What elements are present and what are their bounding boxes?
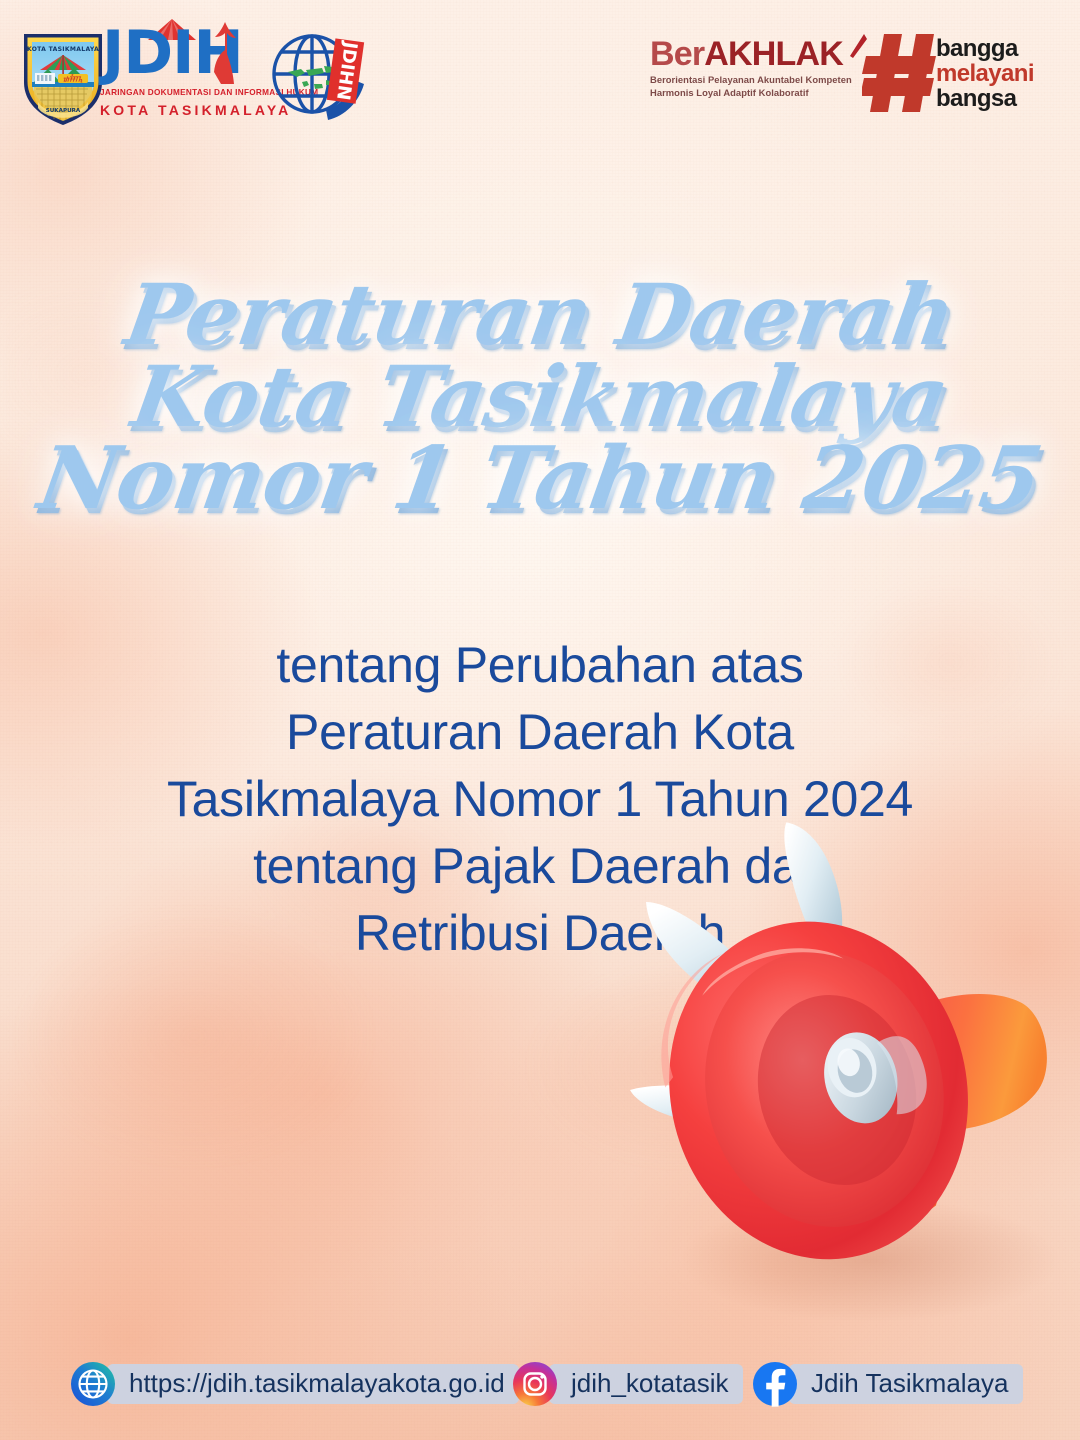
berakhlak-logo: BerAKHLAK Berorientasi Pelayanan Akuntab… bbox=[650, 22, 1040, 122]
poster-footer: https://jdih.tasikmalayakota.go.id bbox=[0, 1352, 1080, 1422]
jdih-logo: JDIH JARINGAN DOKUMENTASI DAN INFORMASI … bbox=[100, 18, 280, 126]
jdihn-logo-icon: JDIHN bbox=[262, 24, 372, 124]
body-line-2: Peraturan Daerah Kota bbox=[0, 699, 1080, 766]
poster-header: KOTA TASIKMALAYA ᮒᮞᮤᮊ᮪ bbox=[0, 0, 1080, 140]
website-label[interactable]: https://jdih.tasikmalayakota.go.id bbox=[107, 1364, 519, 1404]
svg-text:KOTA TASIKMALAYA: KOTA TASIKMALAYA bbox=[27, 46, 99, 53]
berakhlak-title: BerAKHLAK bbox=[650, 36, 860, 72]
instagram-label[interactable]: jdih_kotatasik bbox=[549, 1364, 743, 1404]
kota-tasikmalaya-emblem-icon: KOTA TASIKMALAYA ᮒᮞᮤᮊ᮪ bbox=[18, 24, 108, 126]
instagram-icon bbox=[512, 1361, 558, 1407]
facebook-label[interactable]: Jdih Tasikmalaya bbox=[789, 1364, 1023, 1404]
berakhlak-values-line1: Berorientasi Pelayanan Akuntabel Kompete… bbox=[650, 74, 860, 87]
title-line-2: Kota Tasikmalaya bbox=[0, 356, 1080, 438]
svg-text:ᮒᮞᮤᮊ᮪: ᮒᮞᮤᮊ᮪ bbox=[63, 74, 82, 83]
hashtag-line-3: bangsa bbox=[936, 86, 1034, 111]
footer-facebook-link[interactable]: Jdih Tasikmalaya bbox=[752, 1360, 1023, 1408]
hashtag-icon bbox=[862, 30, 940, 116]
globe-icon bbox=[70, 1361, 116, 1407]
jdih-subtitle: JARINGAN DOKUMENTASI DAN INFORMASI HUKUM bbox=[100, 88, 280, 97]
hashtag-line-1: bangga bbox=[936, 36, 1034, 61]
svg-text:SUKAPURA: SUKAPURA bbox=[46, 108, 81, 114]
footer-website-link[interactable]: https://jdih.tasikmalayakota.go.id bbox=[70, 1360, 519, 1408]
berakhlak-prefix: Ber bbox=[650, 35, 704, 73]
title-line-3: Nomor 1 Tahun 2025 bbox=[0, 438, 1080, 520]
footer-instagram-link[interactable]: jdih_kotatasik bbox=[512, 1360, 743, 1408]
poster-title: Peraturan Daerah Kota Tasikmalaya Nomor … bbox=[0, 274, 1080, 520]
jdih-figure-icon bbox=[210, 22, 238, 84]
facebook-icon bbox=[752, 1361, 798, 1407]
body-line-1: tentang Perubahan atas bbox=[0, 632, 1080, 699]
poster-canvas: KOTA TASIKMALAYA ᮒᮞᮤᮊ᮪ bbox=[0, 0, 1080, 1440]
megaphone-illustration bbox=[620, 790, 1080, 1350]
jdih-city-label: KOTA TASIKMALAYA bbox=[100, 102, 280, 118]
berakhlak-main: AKHLAK bbox=[704, 35, 843, 73]
bangga-melayani-bangsa: bangga melayani bangsa bbox=[936, 36, 1034, 111]
title-line-1: Peraturan Daerah bbox=[0, 274, 1080, 356]
berakhlak-values-line2: Harmonis Loyal Adaptif Kolaboratif bbox=[650, 87, 860, 100]
hashtag-line-2: melayani bbox=[936, 61, 1034, 86]
